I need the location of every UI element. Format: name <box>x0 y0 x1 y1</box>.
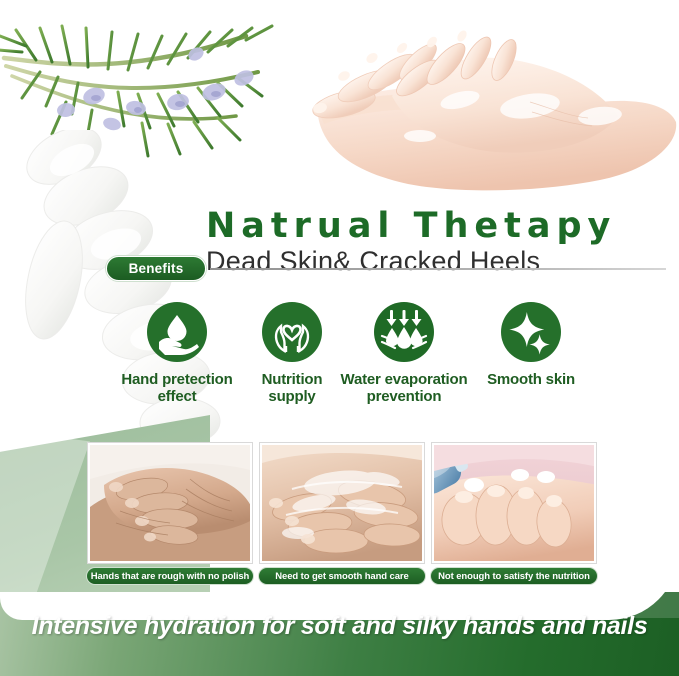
product-marketing-poster: Natrual Thetapy Dead Skin& Cracked Heels… <box>0 0 679 676</box>
benefits-header-row: Benefits <box>106 256 666 282</box>
page-title: Natrual Thetapy <box>206 208 666 245</box>
photo-strip: Hands that are rough with no polish <box>88 443 608 589</box>
photo-caption: Need to get smooth hand care <box>258 567 426 585</box>
benefit-item-smooth-skin: Smooth skin <box>478 302 584 389</box>
benefit-label: Water evaporation prevention <box>338 372 470 406</box>
tagline-text: Intensive hydration for soft and silky h… <box>0 612 679 641</box>
oily-hands-photo <box>260 443 424 563</box>
benefit-label: Nutrition supply <box>238 372 346 406</box>
benefit-label: Smooth skin <box>478 372 584 389</box>
header-divider <box>210 268 666 270</box>
benefit-item-water-evaporation: Water evaporation prevention <box>338 302 470 406</box>
hands-heart-icon <box>262 302 322 362</box>
benefits-badge-label: Benefits <box>129 261 184 276</box>
benefit-label: Hand pretection effect <box>118 372 236 406</box>
photo-card: Need to get smooth hand care <box>260 443 424 563</box>
photo-card: Not enough to satisfy the nutrition <box>432 443 596 563</box>
hand-droplet-icon <box>147 302 207 362</box>
photo-card: Hands that are rough with no polish <box>88 443 252 563</box>
sparkle-icon <box>501 302 561 362</box>
photo-caption: Not enough to satisfy the nutrition <box>430 567 598 585</box>
benefit-item-hand-protection: Hand pretection effect <box>118 302 236 406</box>
rough-hands-photo <box>88 443 252 563</box>
photo-caption: Hands that are rough with no polish <box>86 567 254 585</box>
benefit-item-nutrition-supply: Nutrition supply <box>238 302 346 406</box>
benefits-badge: Benefits <box>106 256 206 281</box>
hands-with-lotion-image <box>300 4 679 214</box>
cream-tube-photo <box>432 443 596 563</box>
water-evaporation-icon <box>374 302 434 362</box>
tagline-banner: Intensive hydration for soft and silky h… <box>0 592 679 676</box>
benefits-grid: Hand pretection effect Nutrition supply <box>100 302 570 427</box>
